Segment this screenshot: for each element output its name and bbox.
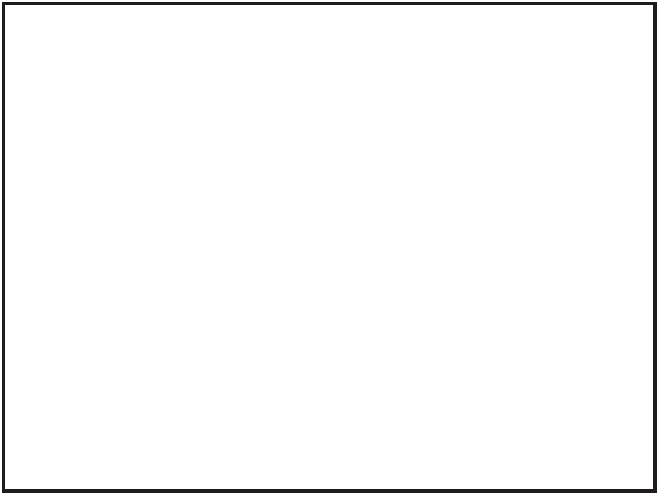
slide-title-line-1: Options:	[5, 75, 654, 117]
bullet-line-1: Further reduce bindings on the volume an…	[73, 261, 513, 285]
bullet-list: · Eliminate all export subsidies by date…	[43, 219, 633, 437]
bullet-line-1: Eliminate all export subsidies by date c…	[73, 220, 456, 244]
world-map-banner	[26, 25, 638, 61]
presentation-slide: Options: Export Subsidy Reductions · Eli…	[0, 0, 661, 497]
bullet-dot-icon: ·	[43, 219, 73, 246]
bullet-text: Constrain per unit value	[73, 328, 633, 355]
bullet-text: Eliminate all export subsidies by date c…	[73, 219, 633, 246]
bullet-line-1: Constrain per unit value	[73, 329, 278, 353]
world-map-icon	[26, 25, 638, 61]
slide-title: Options: Export Subsidy Reductions	[5, 75, 654, 162]
bullet-item-further-reduce-bindings: · Further reduce bindings on the volume …	[43, 260, 633, 314]
bullet-text: Further reduce bindings on the volume an…	[73, 260, 633, 314]
bullet-item-eliminate-export-subsidies: · Eliminate all export subsidies by date…	[43, 219, 633, 246]
bullet-item-constrain-per-unit-value: · Constrain per unit value	[43, 328, 633, 355]
slide-canvas: Options: Export Subsidy Reductions · Eli…	[5, 5, 654, 490]
bullet-line-1: Eliminate ability to “rollover” unused s…	[73, 370, 499, 394]
bullet-line-2: export subsidies	[73, 287, 633, 314]
bullet-text: Eliminate ability to “rollover” unused s…	[73, 369, 633, 423]
bullet-line-2: future years	[73, 396, 633, 423]
bullet-dot-icon: ·	[43, 260, 73, 287]
bullet-dot-icon: ·	[43, 328, 73, 355]
slide-title-line-2: Export Subsidy Reductions	[5, 117, 654, 162]
bullet-item-eliminate-rollover-ability: · Eliminate ability to “rollover” unused…	[43, 369, 633, 423]
bullet-dot-icon: ·	[43, 369, 73, 396]
